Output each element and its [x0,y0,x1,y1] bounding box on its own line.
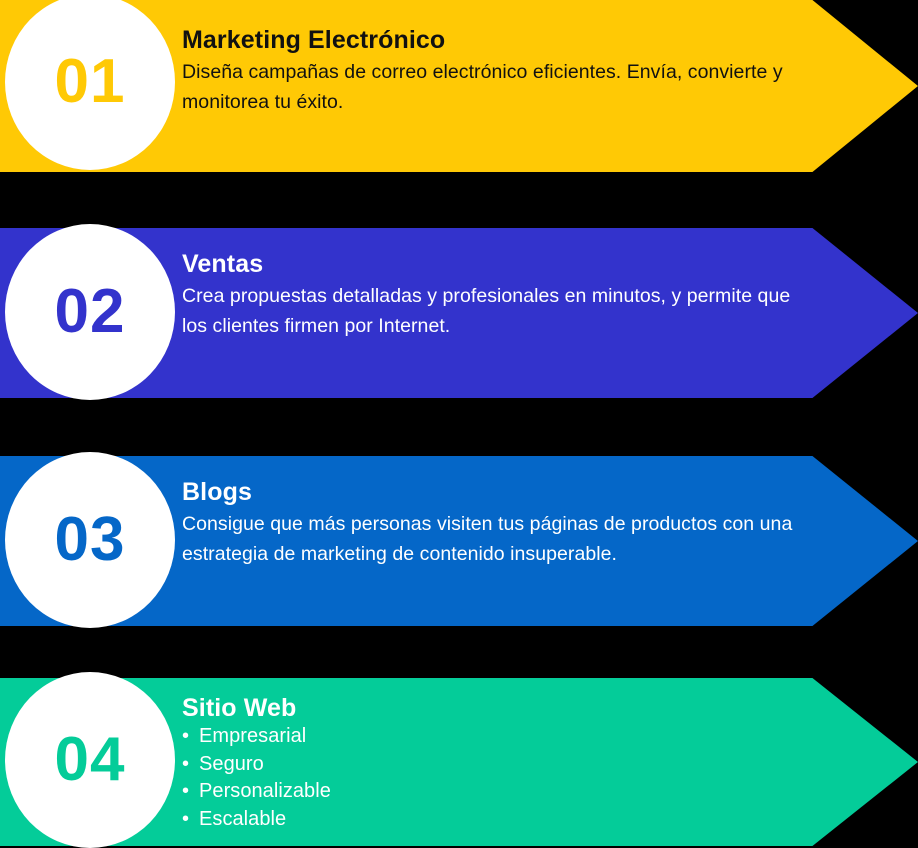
step-feature-item: Personalizable [182,778,798,806]
step-badge-04: 04 [5,672,175,848]
step-feature-item: Seguro [182,751,798,779]
step-feature-item: Escalable [182,806,798,834]
step-number-03: 03 [55,509,126,571]
step-description-03: Consigue que más personas visiten tus pá… [182,510,798,569]
infographic-steps-list: 01 Marketing Electrónico Diseña campañas… [0,0,918,846]
step-number-01: 01 [55,51,126,113]
step-feature-item: Empresarial [182,723,798,751]
step-item-02: 02 Ventas Crea propuestas detalladas y p… [0,228,918,398]
step-title-04: Sitio Web [182,694,798,722]
step-content-03: Blogs Consigue que más personas visiten … [182,478,798,569]
step-title-03: Blogs [182,478,798,506]
step-item-04: 04 Sitio Web EmpresarialSeguroPersonaliz… [0,678,918,846]
step-number-02: 02 [55,281,126,343]
step-badge-02: 02 [5,224,175,400]
step-number-04: 04 [55,729,126,791]
step-content-01: Marketing Electrónico Diseña campañas de… [182,26,798,117]
step-content-02: Ventas Crea propuestas detalladas y prof… [182,250,798,341]
step-badge-01: 01 [5,0,175,170]
step-title-02: Ventas [182,250,798,278]
step-badge-03: 03 [5,452,175,628]
step-description-01: Diseña campañas de correo electrónico ef… [182,58,798,117]
step-feature-list-04: EmpresarialSeguroPersonalizableEscalable [182,723,798,833]
step-item-03: 03 Blogs Consigue que más personas visit… [0,456,918,626]
step-item-01: 01 Marketing Electrónico Diseña campañas… [0,0,918,172]
step-description-02: Crea propuestas detalladas y profesional… [182,282,798,341]
step-title-01: Marketing Electrónico [182,26,798,54]
step-content-04: Sitio Web EmpresarialSeguroPersonalizabl… [182,694,798,833]
